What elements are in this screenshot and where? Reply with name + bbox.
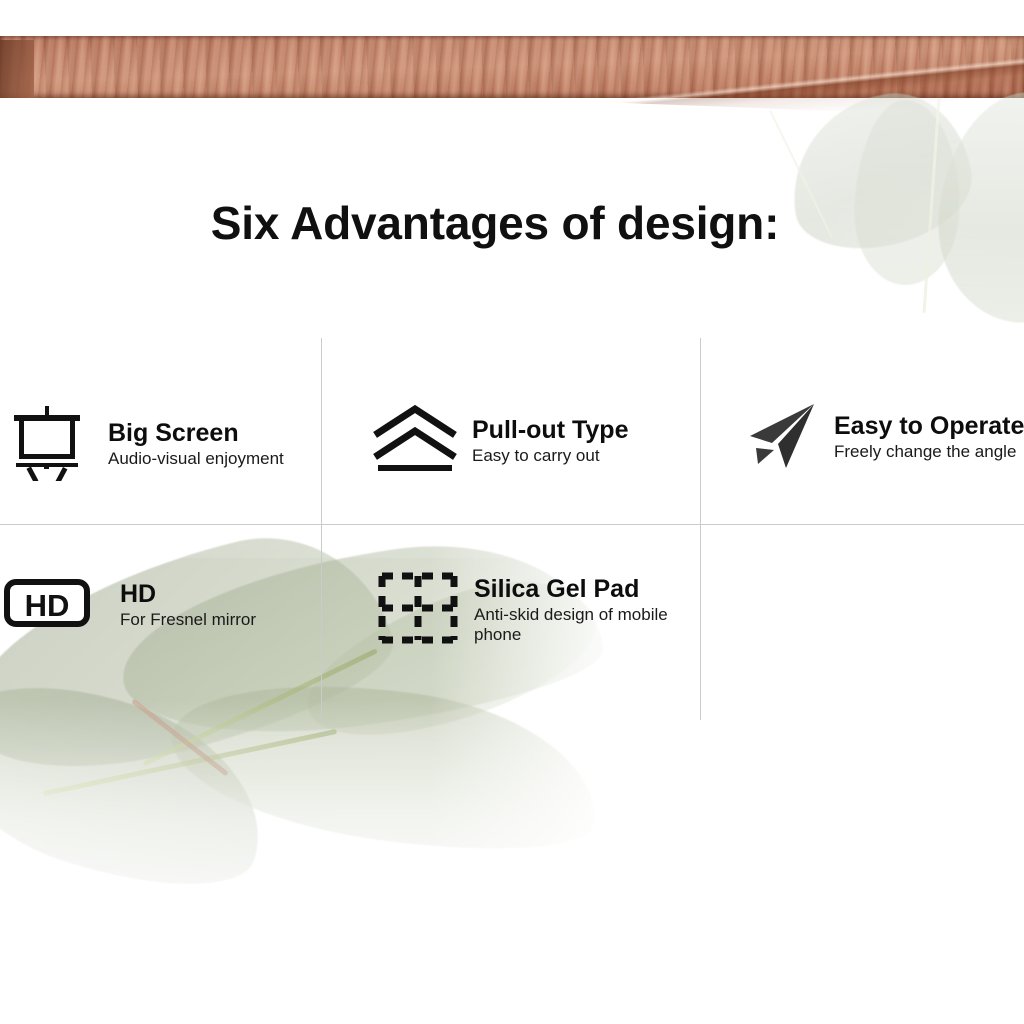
projector-screen-icon xyxy=(8,403,86,486)
grid-divider-horizontal xyxy=(0,524,1024,525)
feature-subtitle: Anti-skid design of mobile phone xyxy=(474,605,694,645)
hd-badge-icon: HD xyxy=(4,578,90,633)
feature-subtitle: For Fresnel mirror xyxy=(120,610,256,630)
feature-item-big-screen: Big Screen Audio-visual enjoyment xyxy=(8,403,284,486)
feature-subtitle: Easy to carry out xyxy=(472,446,628,466)
paper-plane-icon xyxy=(738,398,820,477)
feature-text-hd: HD For Fresnel mirror xyxy=(120,581,256,630)
feature-text-easy-to-operate: Easy to Operate Freely change the angle xyxy=(834,413,1024,462)
feature-subtitle: Freely change the angle xyxy=(834,442,1024,462)
feature-title: Pull-out Type xyxy=(472,417,628,443)
feature-item-pull-out-type: Pull-out Type Easy to carry out xyxy=(372,403,628,480)
product-feature-banner: Six Advantages of design: Big Screen Aud… xyxy=(0,0,1024,1024)
white-veil-overlay xyxy=(0,98,1024,558)
page-title: Six Advantages of design: xyxy=(0,196,990,250)
feature-text-big-screen: Big Screen Audio-visual enjoyment xyxy=(108,420,284,469)
double-chevron-up-icon xyxy=(372,403,458,480)
feature-text-silica-gel-pad: Silica Gel Pad Anti-skid design of mobil… xyxy=(474,576,694,645)
feature-title: HD xyxy=(120,581,256,607)
wood-plank-end-cap xyxy=(0,40,34,98)
grid-divider-vertical-left xyxy=(321,338,322,720)
grid-divider-vertical-right xyxy=(700,338,701,720)
feature-item-silica-gel-pad: Silica Gel Pad Anti-skid design of mobil… xyxy=(376,570,694,651)
feature-title: Silica Gel Pad xyxy=(474,576,694,602)
feature-text-pull-out-type: Pull-out Type Easy to carry out xyxy=(472,417,628,466)
svg-text:HD: HD xyxy=(25,588,70,623)
feature-item-hd: HD HD For Fresnel mirror xyxy=(4,578,256,633)
feature-title: Easy to Operate xyxy=(834,413,1024,439)
feature-title: Big Screen xyxy=(108,420,284,446)
dashed-grid-icon xyxy=(376,570,460,651)
bottom-fade-overlay xyxy=(0,700,1024,1024)
top-white-margin xyxy=(0,0,1024,36)
feature-item-easy-to-operate: Easy to Operate Freely change the angle xyxy=(738,398,1024,477)
feature-subtitle: Audio-visual enjoyment xyxy=(108,449,284,469)
